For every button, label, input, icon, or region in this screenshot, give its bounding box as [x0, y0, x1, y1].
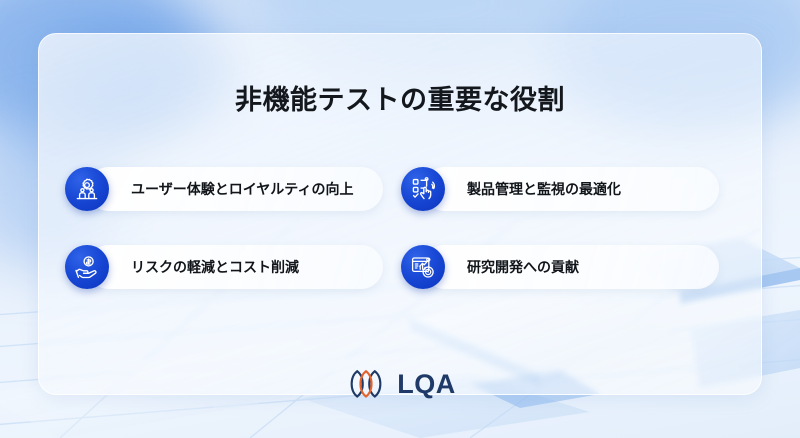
lqa-logo: LQA [0, 368, 800, 400]
feature-card[interactable]: ユーザー体験とロイヤルティの向上 [65, 163, 401, 215]
slide-canvas: 非機能テストの重要な役割 ユーザー体験とロイヤルティの向上 [0, 0, 800, 438]
hand-coin-icon [65, 245, 109, 289]
feature-card[interactable]: 研究開発への貢献 [401, 241, 737, 293]
feature-label: 製品管理と監視の最適化 [467, 179, 621, 199]
hand-tap-checklist-icon [401, 167, 445, 211]
lqa-petals-icon [344, 368, 388, 400]
feature-card[interactable]: リスクの軽減とコスト削減 [65, 241, 401, 293]
gear-people-icon [65, 167, 109, 211]
feature-card-grid: ユーザー体験とロイヤルティの向上 [65, 150, 737, 306]
logo-wordmark: LQA [397, 371, 456, 398]
feature-label: ユーザー体験とロイヤルティの向上 [131, 179, 353, 199]
content-panel: 非機能テストの重要な役割 ユーザー体験とロイヤルティの向上 [38, 33, 762, 395]
feature-label: リスクの軽減とコスト削減 [131, 257, 299, 277]
feature-label: 研究開発への貢献 [467, 257, 579, 277]
feature-card[interactable]: 製品管理と監視の最適化 [401, 163, 737, 215]
chart-target-icon [401, 245, 445, 289]
page-title: 非機能テストの重要な役割 [39, 78, 761, 117]
